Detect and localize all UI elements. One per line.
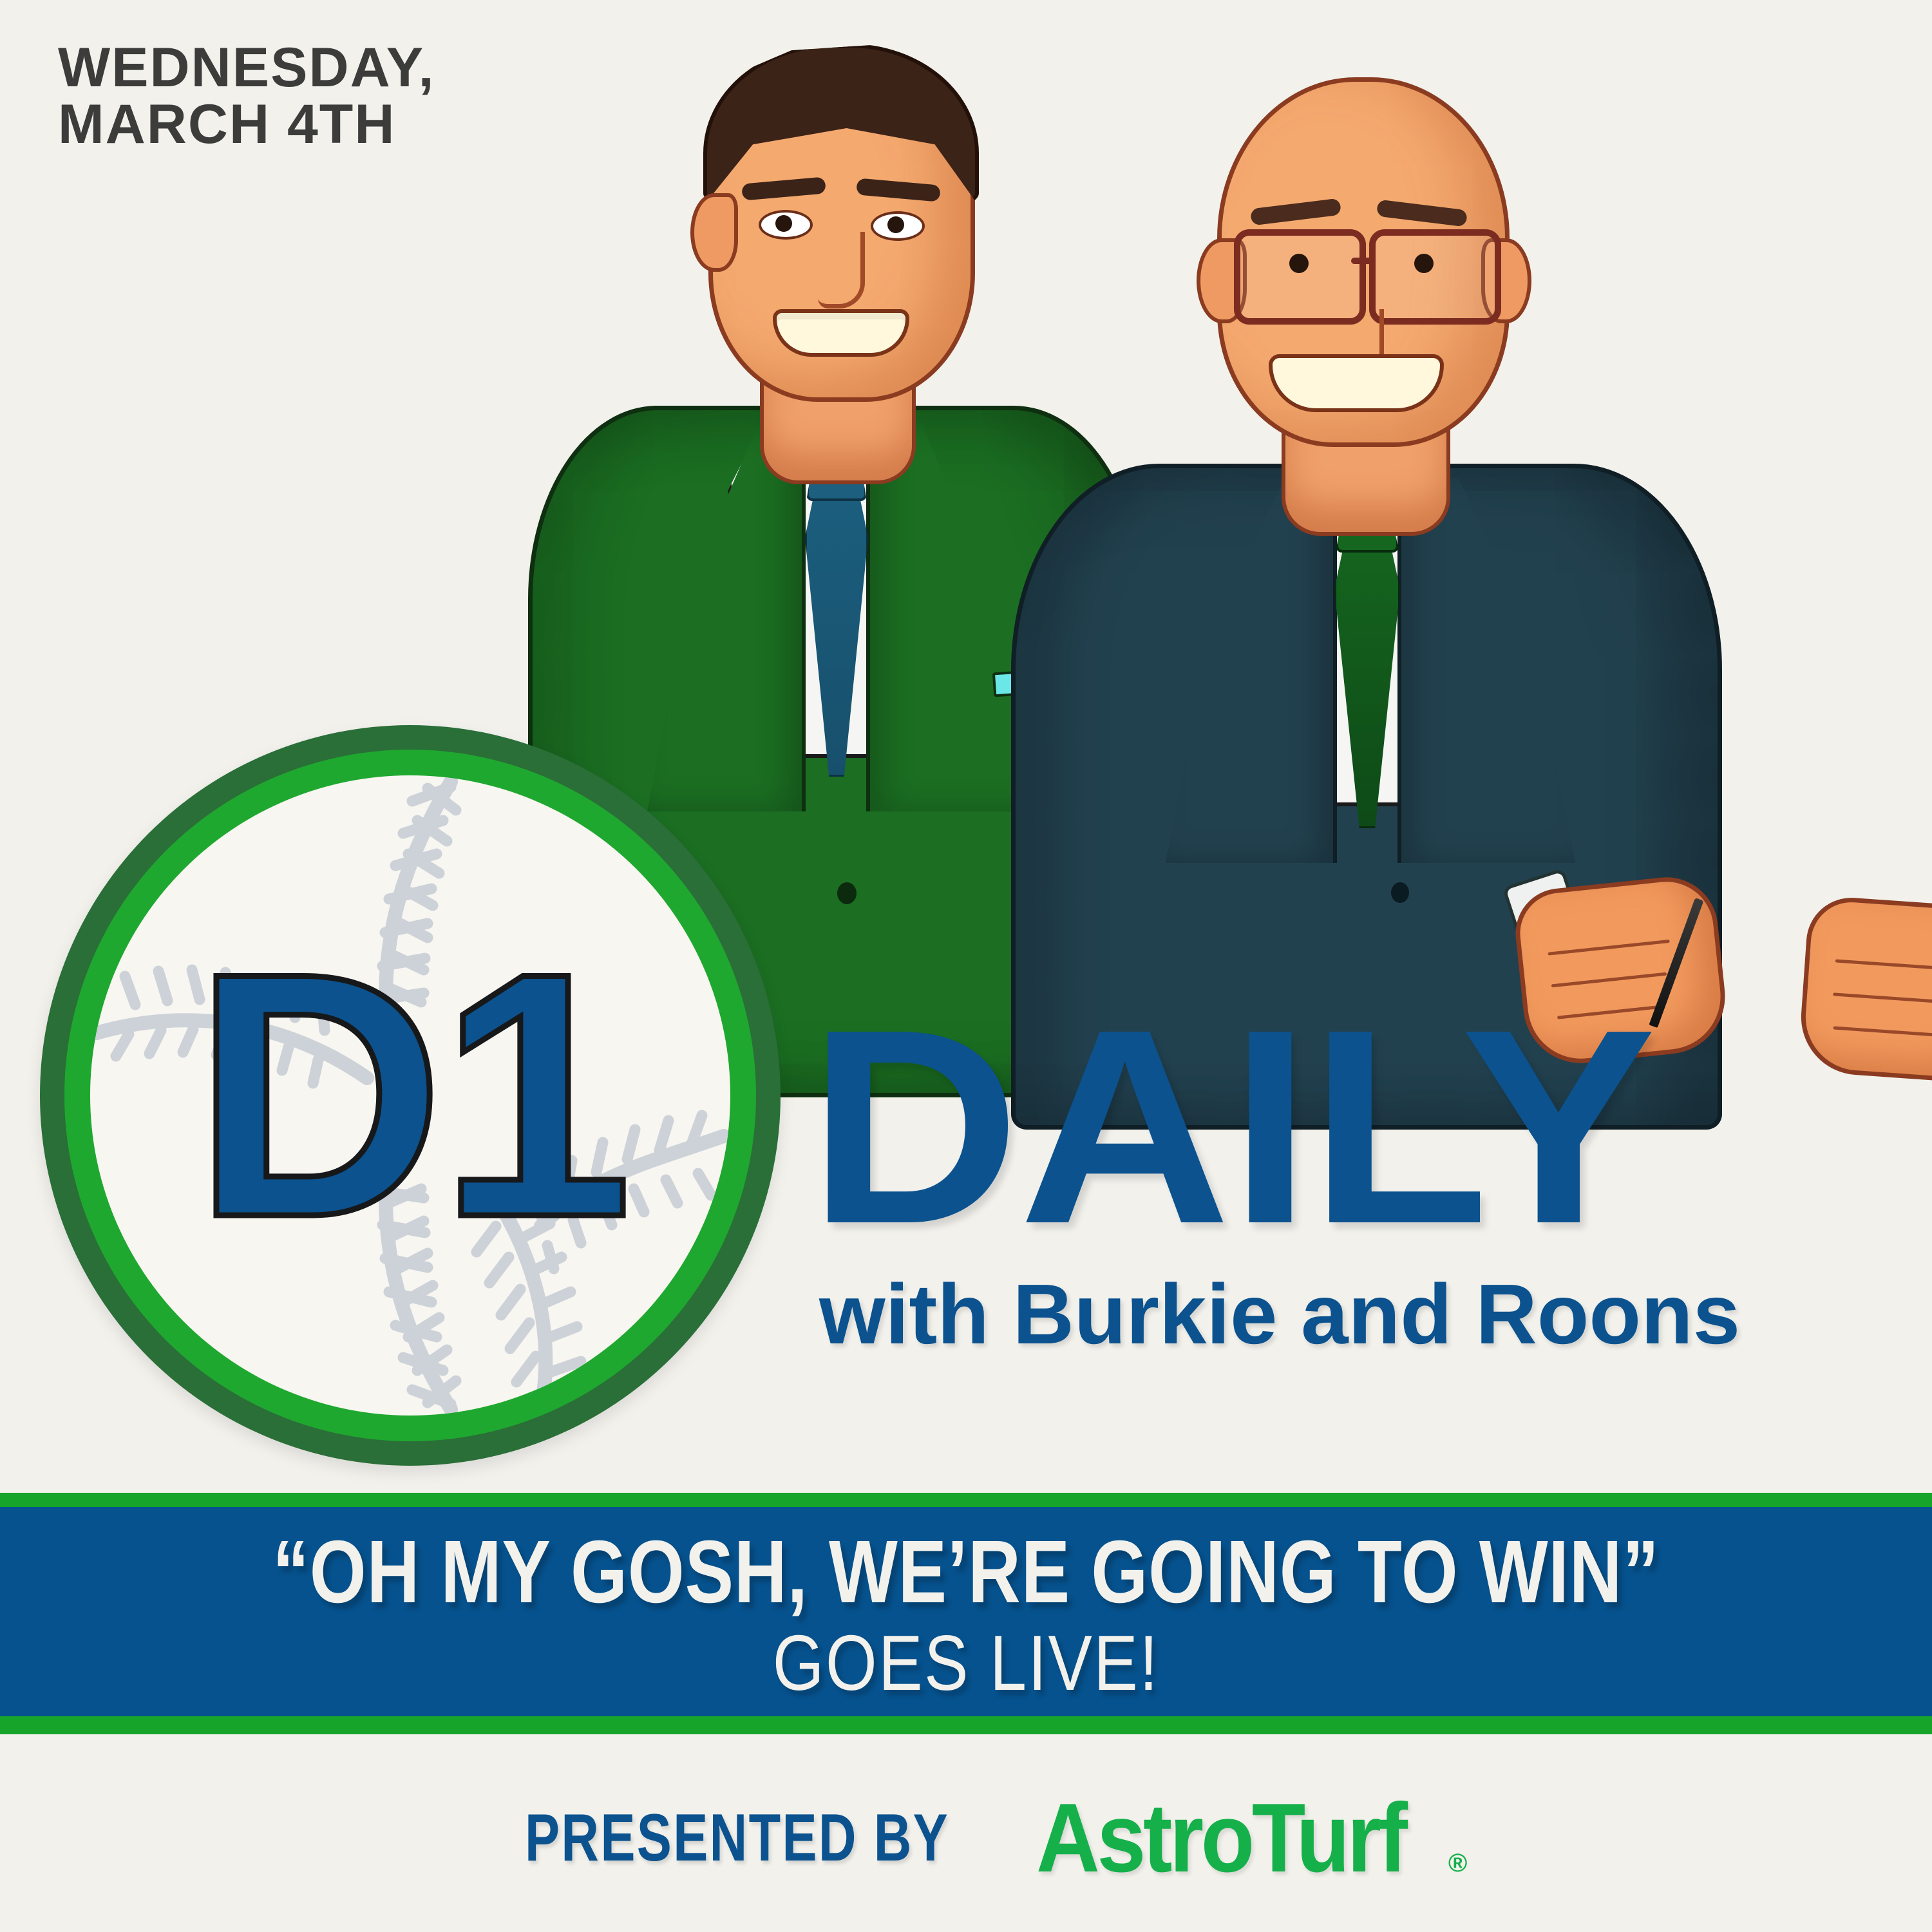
smile	[1269, 354, 1444, 412]
banner-rule-bottom	[0, 1716, 1932, 1734]
knuckle-line	[1835, 959, 1932, 971]
hand-right	[1797, 895, 1932, 1084]
knuckle-line	[1548, 940, 1669, 956]
pupil-right	[1414, 254, 1434, 273]
smile	[773, 309, 909, 357]
show-subtitle: with Burkie and Roons	[819, 1272, 1740, 1357]
headline-quote: “OH MY GOSH, WE’RE GOING TO WIN”	[174, 1521, 1758, 1624]
baseball-icon: D1	[90, 775, 730, 1416]
presented-by-label: PRESENTED BY	[525, 1800, 949, 1877]
ear-left	[690, 193, 738, 272]
registered-trademark-icon: ®	[1448, 1849, 1467, 1878]
headline-subline: GOES LIVE!	[155, 1618, 1777, 1708]
nose	[818, 232, 865, 308]
knuckle-line	[1833, 992, 1932, 1004]
logo-text: D1	[90, 922, 730, 1269]
astroturf-logo: AstroTurf ®	[1036, 1789, 1468, 1887]
poster-canvas: WEDNESDAY, MARCH 4TH	[0, 0, 1932, 1932]
astroturf-wordmark: AstroTurf	[1036, 1789, 1405, 1887]
jacket-button	[1391, 882, 1409, 903]
d1-baseball-logo: D1	[40, 725, 781, 1466]
glasses-bridge	[1351, 258, 1374, 264]
pupil-right	[887, 216, 904, 233]
knuckle-line	[1833, 1026, 1932, 1037]
sponsor-footer: PRESENTED BY AstroTurf ®	[0, 1789, 1932, 1887]
date-label: WEDNESDAY, MARCH 4TH	[58, 40, 435, 153]
pupil-left	[1289, 254, 1309, 273]
pupil-left	[775, 215, 792, 232]
banner-rule-top	[0, 1493, 1932, 1507]
show-title: DAILY	[808, 989, 1655, 1265]
glasses-lens-right	[1369, 229, 1501, 325]
jacket-button	[837, 882, 857, 904]
